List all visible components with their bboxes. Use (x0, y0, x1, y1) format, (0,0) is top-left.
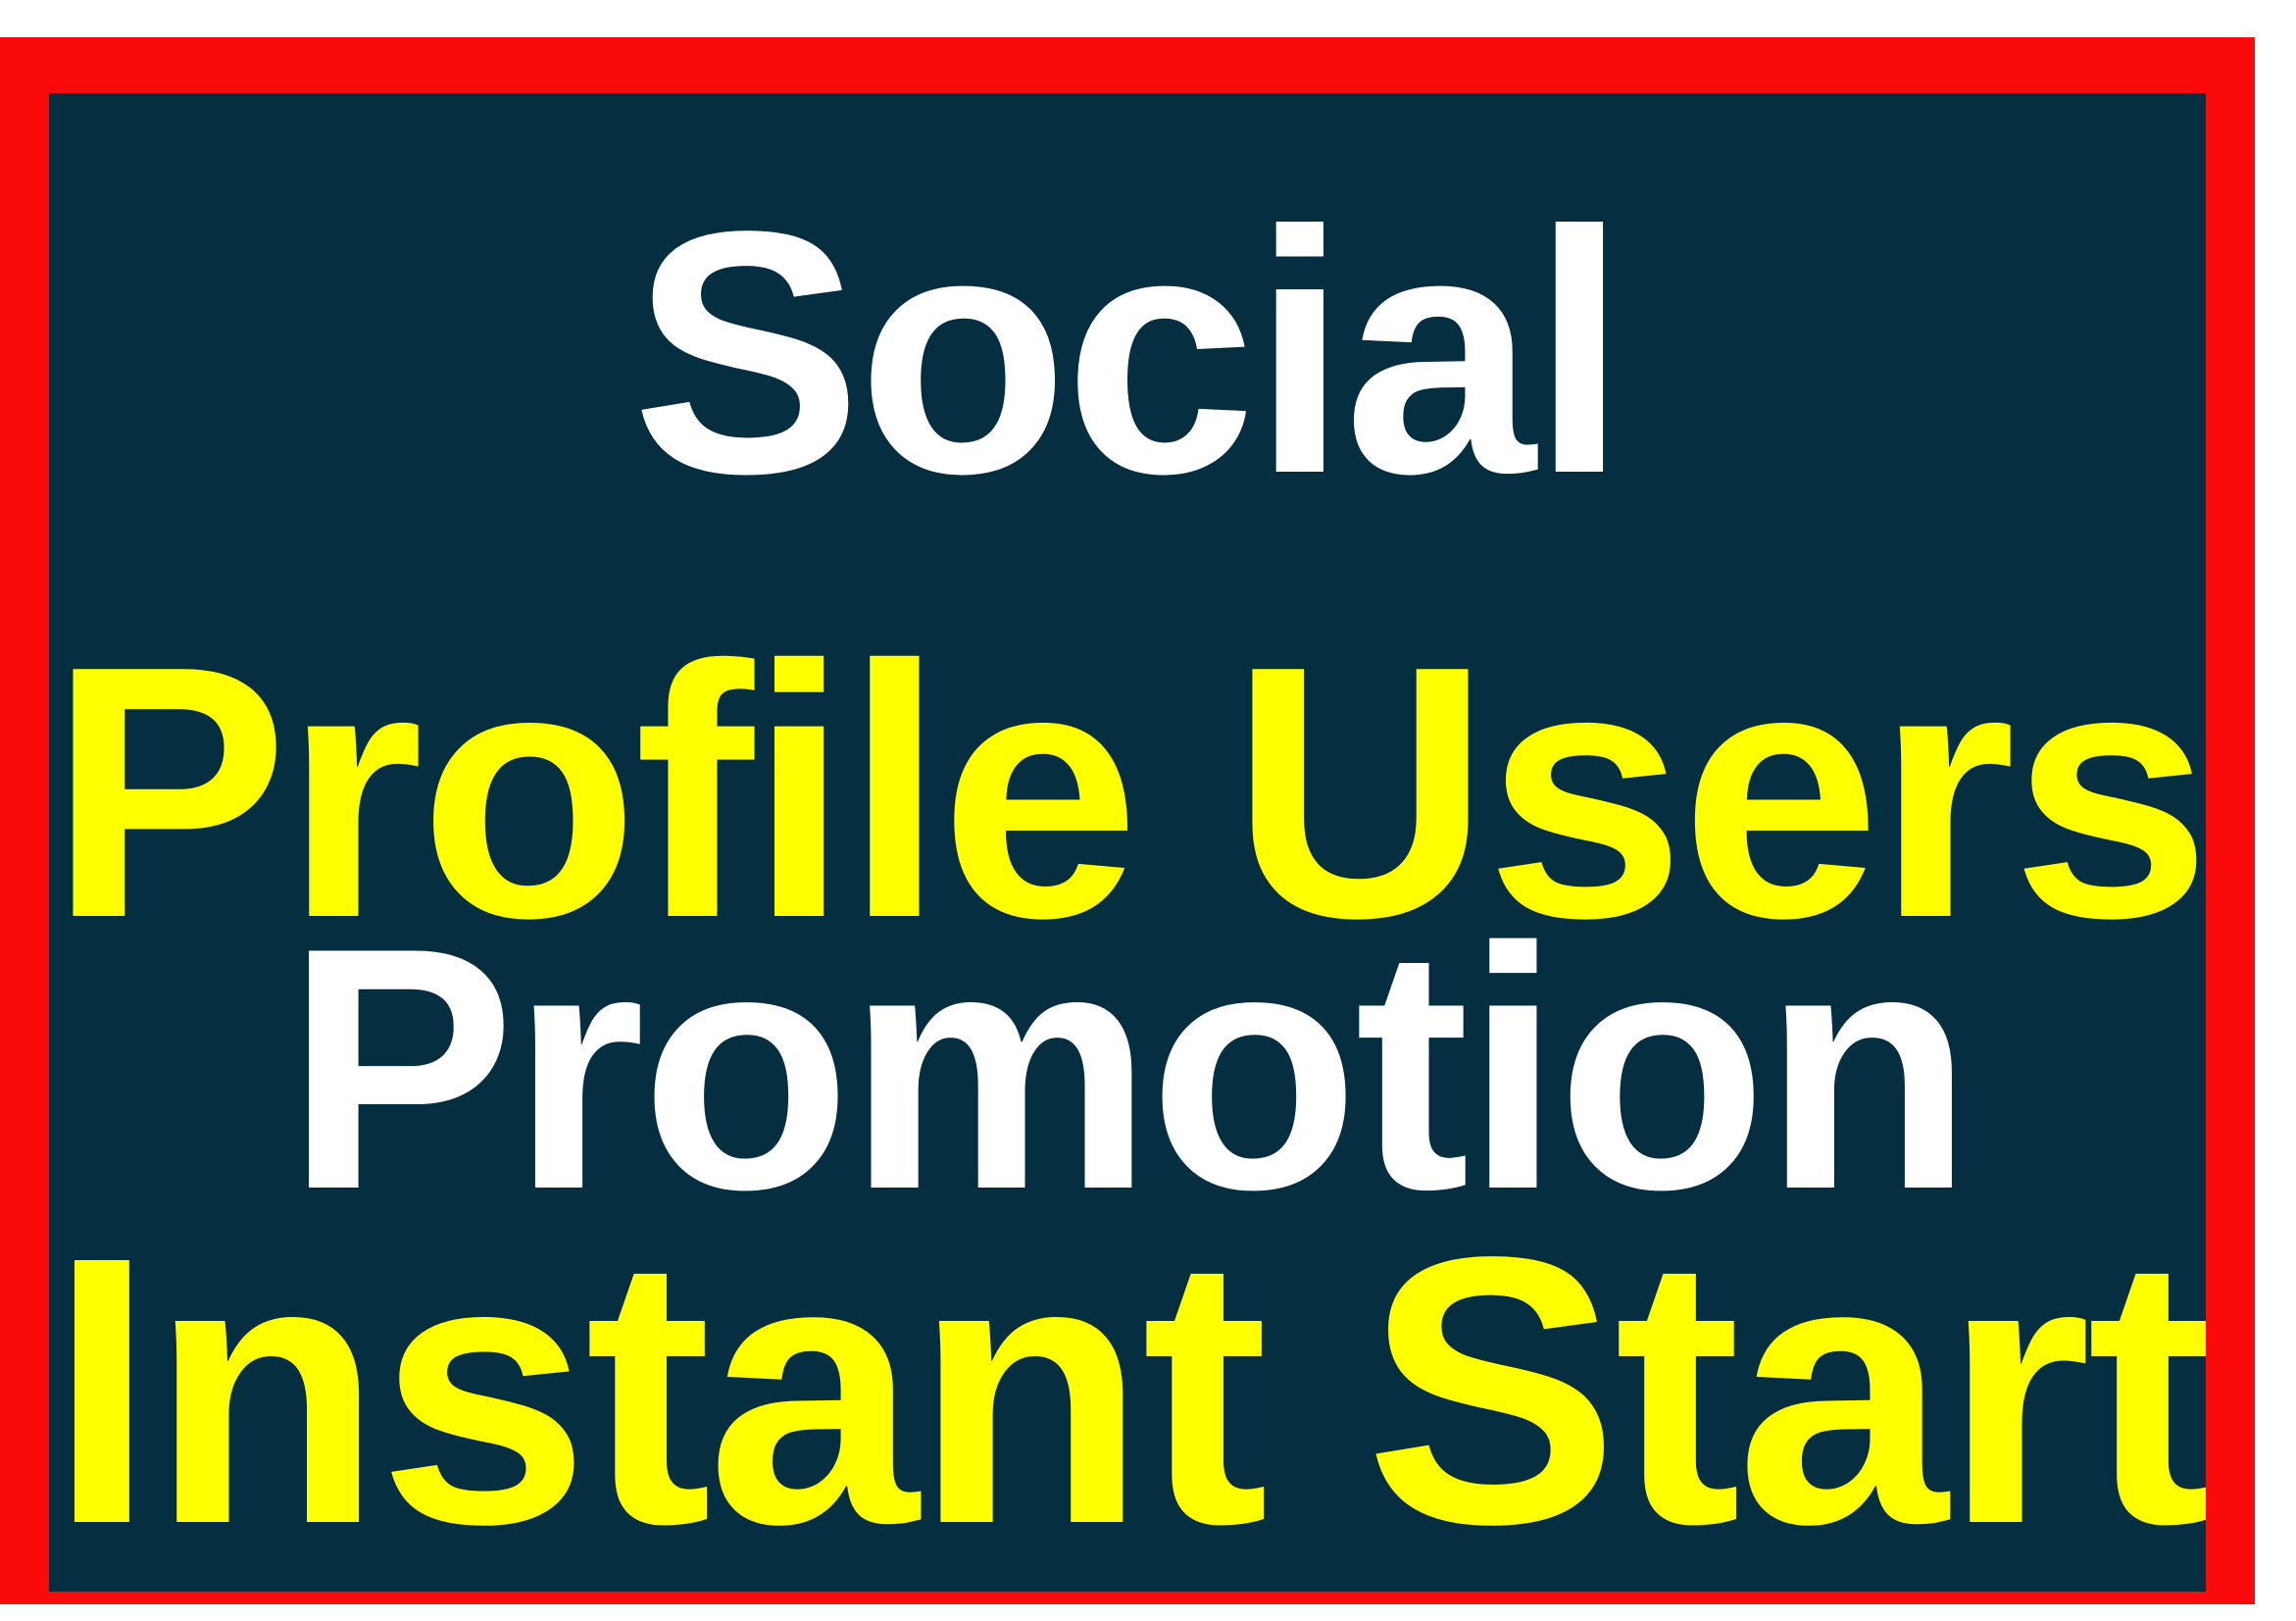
promo-banner: Social Profile Users Promotion Instant S… (0, 0, 2296, 1621)
red-border-frame: Social Profile Users Promotion Instant S… (0, 37, 2255, 1604)
headline-line-1: Social (49, 179, 2206, 525)
navy-panel: Social Profile Users Promotion Instant S… (49, 93, 2206, 1592)
headline-line-4: Instant Start (49, 1201, 2206, 1582)
headline-block: Social Profile Users Promotion Instant S… (49, 93, 2206, 1592)
